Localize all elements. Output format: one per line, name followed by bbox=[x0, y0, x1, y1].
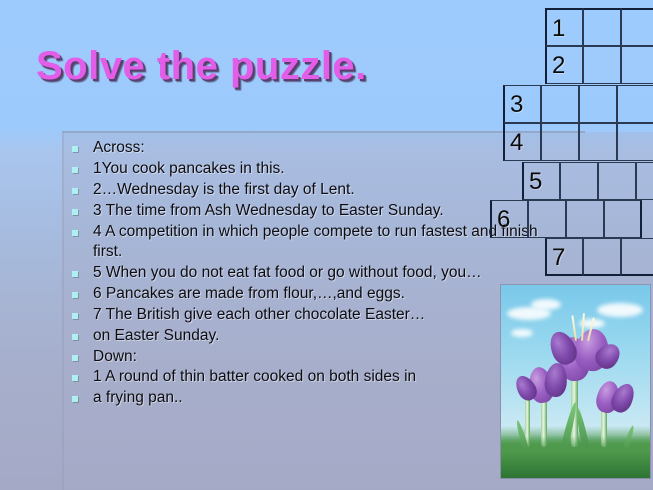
crossword-cell[interactable]: 1 bbox=[545, 8, 583, 46]
clue-text: 1You cook pancakes in this. bbox=[93, 160, 285, 177]
crossword-clue-number: 7 bbox=[552, 240, 565, 276]
crossword-cell[interactable] bbox=[528, 200, 566, 238]
crossword-clue-number: 2 bbox=[552, 48, 565, 84]
crossword-clue-number: 5 bbox=[529, 164, 542, 200]
crossword-cell[interactable] bbox=[636, 162, 653, 200]
clue-text: 1 A round of thin batter cooked on both … bbox=[93, 368, 416, 385]
crossword-cell[interactable]: 6 bbox=[490, 200, 528, 238]
clue-item: Down: bbox=[68, 347, 538, 367]
clue-text: 4 A competition in which people compete … bbox=[93, 223, 538, 240]
crossword-cell[interactable] bbox=[617, 123, 653, 161]
crossword-cell[interactable] bbox=[583, 8, 621, 46]
crocus-flowers-photo bbox=[501, 285, 650, 478]
photo-grass-front bbox=[501, 436, 650, 478]
crossword-cell[interactable] bbox=[617, 85, 653, 123]
crossword-cell[interactable]: 7 bbox=[545, 238, 583, 276]
photo-cloud bbox=[511, 329, 533, 337]
clue-text: 7 The British give each other chocolate … bbox=[93, 306, 425, 323]
content-panel-left-edge bbox=[62, 132, 64, 490]
slide-canvas: Solve the puzzle. Across:1You cook panca… bbox=[0, 0, 653, 490]
crossword-cell[interactable]: 2 bbox=[545, 46, 583, 84]
clue-item: 2…Wednesday is the first day of Lent. bbox=[68, 180, 538, 200]
crossword-clue-number: 6 bbox=[497, 202, 510, 238]
photo-cloud bbox=[597, 303, 643, 317]
photo-cloud bbox=[531, 299, 561, 310]
crossword-cell[interactable] bbox=[541, 123, 579, 161]
page-title: Solve the puzzle. bbox=[36, 44, 367, 89]
crossword-cell[interactable] bbox=[566, 200, 604, 238]
crossword-cell[interactable] bbox=[579, 85, 617, 123]
clue-item: 4 A competition in which people compete … bbox=[68, 222, 538, 263]
crossword-cell[interactable]: 4 bbox=[503, 123, 541, 161]
crossword-cell[interactable] bbox=[560, 162, 598, 200]
clue-text: 2…Wednesday is the first day of Lent. bbox=[93, 181, 355, 198]
clue-text: Down: bbox=[93, 348, 137, 365]
crossword-cell[interactable]: 3 bbox=[503, 85, 541, 123]
crossword-clue-number: 4 bbox=[510, 125, 523, 161]
clue-item: 5 When you do not eat fat food or go wit… bbox=[68, 263, 538, 283]
clue-item: 7 The British give each other chocolate … bbox=[68, 305, 538, 325]
clue-item: 1 A round of thin batter cooked on both … bbox=[68, 367, 538, 387]
clue-text: on Easter Sunday. bbox=[93, 327, 219, 344]
clue-item: Across: bbox=[68, 138, 538, 158]
crossword-cell[interactable] bbox=[621, 238, 653, 276]
crossword-clue-number: 3 bbox=[510, 87, 523, 123]
clue-text: 6 Pancakes are made from flour,…,and egg… bbox=[93, 285, 405, 302]
clue-item: a frying pan.. bbox=[68, 388, 538, 408]
clue-text: 3 The time from Ash Wednesday to Easter … bbox=[93, 202, 444, 219]
crossword-cell[interactable]: 5 bbox=[522, 162, 560, 200]
clue-text: a frying pan.. bbox=[93, 389, 183, 406]
clue-item: 1You cook pancakes in this. bbox=[68, 159, 538, 179]
clue-text: 5 When you do not eat fat food or go wit… bbox=[93, 264, 482, 281]
crossword-cell[interactable] bbox=[621, 46, 653, 84]
crossword-cell[interactable] bbox=[583, 238, 621, 276]
crossword-cell[interactable] bbox=[583, 46, 621, 84]
crossword-clue-number: 1 bbox=[552, 11, 565, 47]
clue-item: 3 The time from Ash Wednesday to Easter … bbox=[68, 201, 538, 221]
clue-text-continuation: first. bbox=[93, 242, 538, 262]
crossword-cell[interactable] bbox=[541, 85, 579, 123]
crossword-cell[interactable] bbox=[598, 162, 636, 200]
crossword-cell[interactable] bbox=[579, 123, 617, 161]
clue-item: 6 Pancakes are made from flour,…,and egg… bbox=[68, 284, 538, 304]
clues-list: Across:1You cook pancakes in this.2…Wedn… bbox=[68, 138, 538, 409]
clue-item: on Easter Sunday. bbox=[68, 326, 538, 346]
clue-text: Across: bbox=[93, 139, 145, 156]
crossword-cell[interactable] bbox=[621, 8, 653, 46]
crossword-cell[interactable] bbox=[604, 200, 642, 238]
